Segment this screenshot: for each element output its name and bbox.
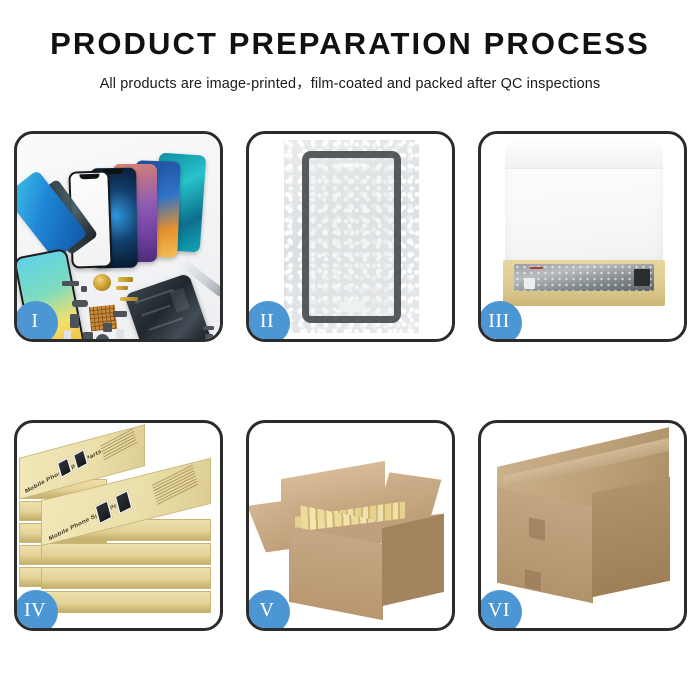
box-spec-text — [100, 428, 138, 462]
carton-side-face — [592, 477, 670, 598]
small-part — [96, 334, 109, 339]
step-badge-2: II — [246, 301, 290, 342]
small-part — [72, 300, 88, 307]
small-part — [62, 281, 79, 286]
step-panel-5[interactable]: V — [246, 420, 455, 631]
box-lid-flap — [505, 142, 663, 169]
page-title: PRODUCT PREPARATION PROCESS — [0, 28, 700, 61]
housing-detail — [135, 289, 173, 304]
product-photo — [114, 489, 134, 515]
small-part — [113, 311, 127, 317]
step-badge-3: III — [478, 301, 522, 342]
step-panel-2[interactable]: II — [246, 131, 455, 342]
bubble-wrap-sheet — [284, 140, 419, 333]
label-detail — [530, 267, 543, 269]
small-part — [64, 330, 71, 339]
kraft-box — [41, 591, 211, 613]
carton-side-face — [382, 514, 444, 606]
box-edge — [42, 581, 210, 588]
box-spec-text — [152, 465, 198, 505]
wrapped-phone-screen — [302, 151, 401, 323]
speaker-component — [93, 274, 111, 291]
step-panel-1[interactable]: I — [14, 131, 223, 342]
label-detail — [524, 278, 535, 289]
home-button — [339, 301, 365, 312]
small-part — [120, 297, 138, 301]
notch-icon — [79, 174, 99, 180]
step-badge-4: IV — [14, 590, 58, 631]
small-part — [83, 332, 93, 339]
box-edge — [42, 557, 210, 564]
housing-detail — [141, 305, 170, 317]
small-part — [203, 326, 214, 330]
kraft-box — [41, 543, 211, 565]
small-part — [205, 334, 213, 338]
page-subtitle: All products are image-printed，film-coat… — [0, 72, 700, 93]
small-part — [70, 314, 79, 328]
kraft-box — [41, 567, 211, 589]
small-part — [116, 329, 124, 339]
small-part — [103, 323, 112, 332]
small-part — [81, 286, 87, 292]
housing-detail — [170, 287, 190, 312]
step-badge-1: I — [14, 301, 58, 342]
small-part — [116, 286, 128, 290]
carton-seam-tab — [525, 569, 541, 590]
process-step-grid: I II — [14, 131, 686, 631]
connector-detail — [634, 269, 650, 286]
step-panel-6[interactable]: VI — [478, 420, 687, 631]
carton-front-face — [497, 487, 593, 603]
step-badge-6: VI — [478, 590, 522, 631]
carton-seam-tab — [529, 517, 545, 540]
wrapped-product-inside — [514, 264, 654, 291]
kraft-box-open — [503, 260, 665, 306]
step-badge-5: V — [246, 590, 290, 631]
page-header: PRODUCT PREPARATION PROCESS All products… — [0, 0, 700, 93]
earpiece-slot — [337, 163, 367, 167]
step-panel-4[interactable]: Mobile Phone Spare Parts Mobile Phone Sp… — [14, 420, 223, 631]
box-edge — [42, 605, 210, 612]
product-photo — [94, 499, 114, 525]
small-part — [118, 277, 133, 282]
housing-detail — [149, 317, 184, 331]
step-panel-3[interactable]: III — [478, 131, 687, 342]
